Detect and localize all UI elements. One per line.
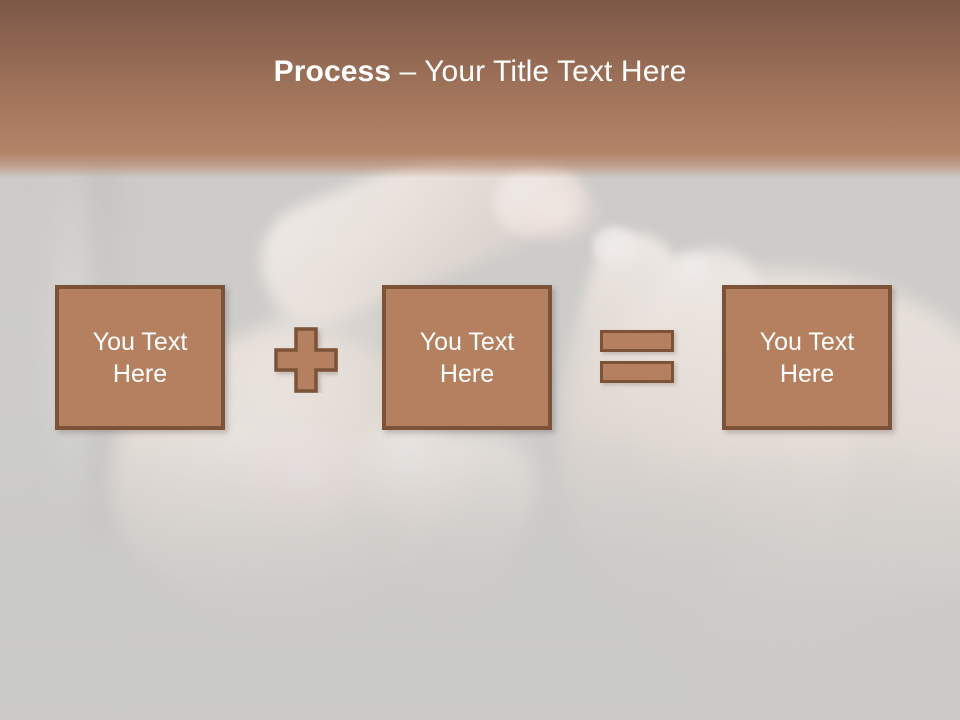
process-box-3-text: You TextHere [754,326,861,390]
process-box-3-line1: You Text [760,328,855,356]
plus-icon-shape [274,327,338,393]
process-box-1-text: You TextHere [87,326,194,390]
process-box-3-line2: Here [780,360,834,388]
page-title: Process – Your Title Text Here [0,52,960,92]
process-box-1-line1: You Text [93,328,188,356]
photo-bottom-fade [0,440,960,720]
equals-icon-bar-bottom [600,361,674,383]
equals-icon-bar-top [600,330,674,352]
process-box-3[interactable]: You TextHere [722,285,892,430]
process-box-1-line2: Here [113,360,167,388]
process-box-1[interactable]: You TextHere [55,285,225,430]
process-box-2-text: You TextHere [414,326,521,390]
slide-canvas: Process – Your Title Text Here You TextH… [0,0,960,720]
equals-icon[interactable] [600,330,674,383]
process-box-2[interactable]: You TextHere [382,285,552,430]
page-title-bold: Process [274,55,391,88]
plus-icon[interactable] [274,327,338,393]
process-box-2-line1: You Text [420,328,515,356]
page-title-rest: – Your Title Text Here [391,55,686,88]
process-box-2-line2: Here [440,360,494,388]
